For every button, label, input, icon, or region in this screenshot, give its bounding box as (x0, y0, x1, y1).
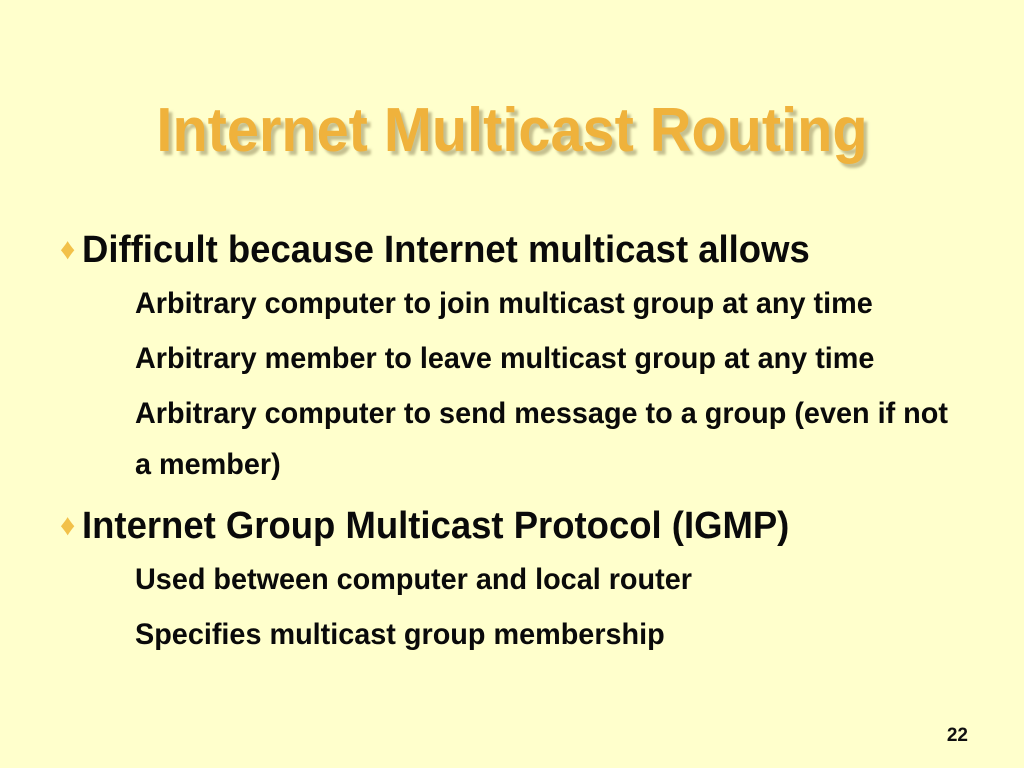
diamond-bullet-icon: ♦ (60, 504, 80, 548)
presentation-slide: Internet Multicast Routing ♦ Difficult b… (0, 0, 1024, 768)
bullet-text: Used between computer and local router (135, 554, 956, 605)
bullet-level2-item: Arbitrary member to leave multicast grou… (60, 333, 990, 384)
slide-title: Internet Multicast Routing (36, 98, 988, 164)
bullet-level1-item: ♦ Difficult because Internet multicast a… (60, 228, 990, 272)
page-number: 22 (947, 726, 968, 746)
bullet-level2-item: Specifies multicast group membership (60, 609, 990, 660)
bullet-text: Internet Group Multicast Protocol (IGMP) (82, 504, 954, 548)
section-spacer (60, 494, 990, 504)
bullet-level2-item: Used between computer and local router (60, 554, 990, 605)
bullet-text: Specifies multicast group membership (135, 609, 956, 660)
diamond-bullet-icon: ♦ (60, 228, 80, 272)
bullet-level1-item: ♦ Internet Group Multicast Protocol (IGM… (60, 504, 990, 548)
slide-body-content: ♦ Difficult because Internet multicast a… (60, 228, 990, 664)
bullet-text: Difficult because Internet multicast all… (82, 228, 954, 272)
bullet-text: Arbitrary computer to send message to a … (135, 388, 956, 490)
bullet-level2-item: Arbitrary computer to send message to a … (60, 388, 990, 490)
bullet-text: Arbitrary computer to join multicast gro… (135, 278, 956, 329)
bullet-text: Arbitrary member to leave multicast grou… (135, 333, 956, 384)
bullet-level2-item: Arbitrary computer to join multicast gro… (60, 278, 990, 329)
